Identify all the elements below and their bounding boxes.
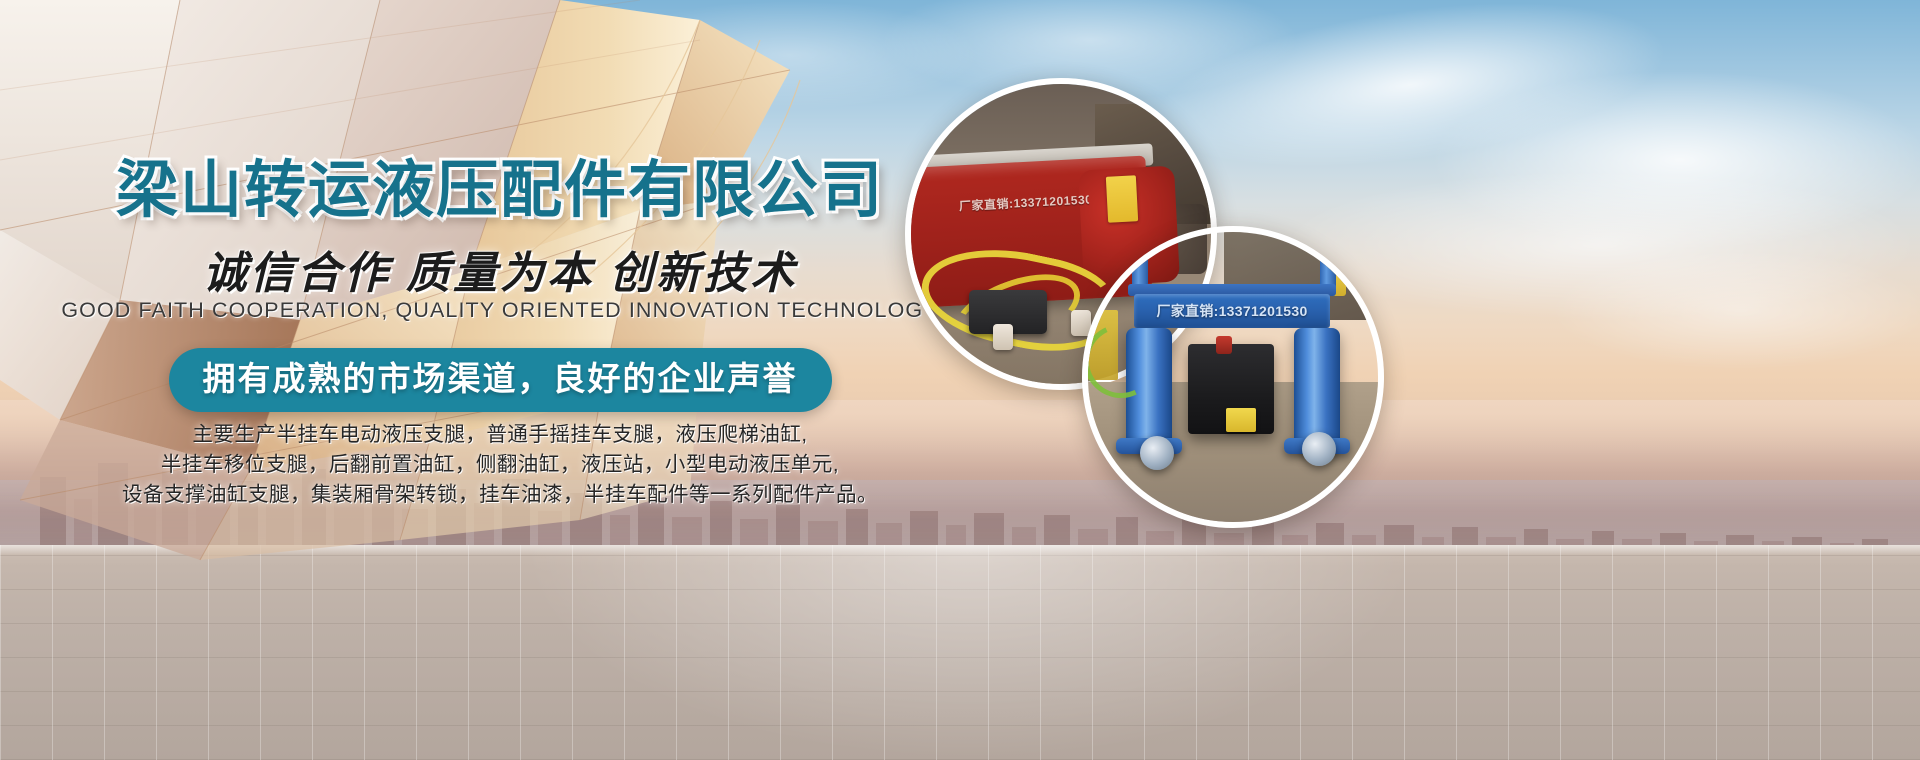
description-line-3: 设备支撑油缸支腿，集装厢骨架转锁，挂车油漆，半挂车配件等一系列配件产品。 <box>0 480 1000 510</box>
slogan-chinese: 诚信合作 质量为本 创新技术 <box>0 252 1000 296</box>
description-line-1: 主要生产半挂车电动液压支腿，普通手摇挂车支腿，液压爬梯油缸, <box>0 420 1000 450</box>
hero-banner: 梁山转运液压配件有限公司 诚信合作 质量为本 创新技术 GOOD FAITH C… <box>0 0 1920 760</box>
highlight-pill-wrapper: 拥有成熟的市场渠道，良好的企业声誉 <box>0 348 1000 412</box>
company-title-text: 梁山转运液压配件有限公司 <box>116 156 884 225</box>
blue-machine-sign-text: 厂家直销:13371201530 <box>1134 294 1330 328</box>
blue-hydraulic-legs-photo: 厂家直销:13371201530 <box>1082 226 1384 528</box>
highlight-pill: 拥有成熟的市场渠道，良好的企业声誉 <box>169 348 832 412</box>
highlight-pill-text: 拥有成熟的市场渠道，良好的企业声誉 <box>203 360 798 398</box>
product-description: 主要生产半挂车电动液压支腿，普通手摇挂车支腿，液压爬梯油缸, 半挂车移位支腿，后… <box>0 420 1000 510</box>
page-title: 梁山转运液压配件有限公司 <box>0 160 1000 222</box>
slogan-english: GOOD FAITH COOPERATION, QUALITY ORIENTED… <box>0 300 1000 322</box>
description-line-2: 半挂车移位支腿，后翻前置油缸，侧翻油缸，液压站，小型电动液压单元, <box>0 450 1000 480</box>
banner-text-block: 梁山转运液压配件有限公司 诚信合作 质量为本 创新技术 GOOD FAITH C… <box>0 0 1000 640</box>
